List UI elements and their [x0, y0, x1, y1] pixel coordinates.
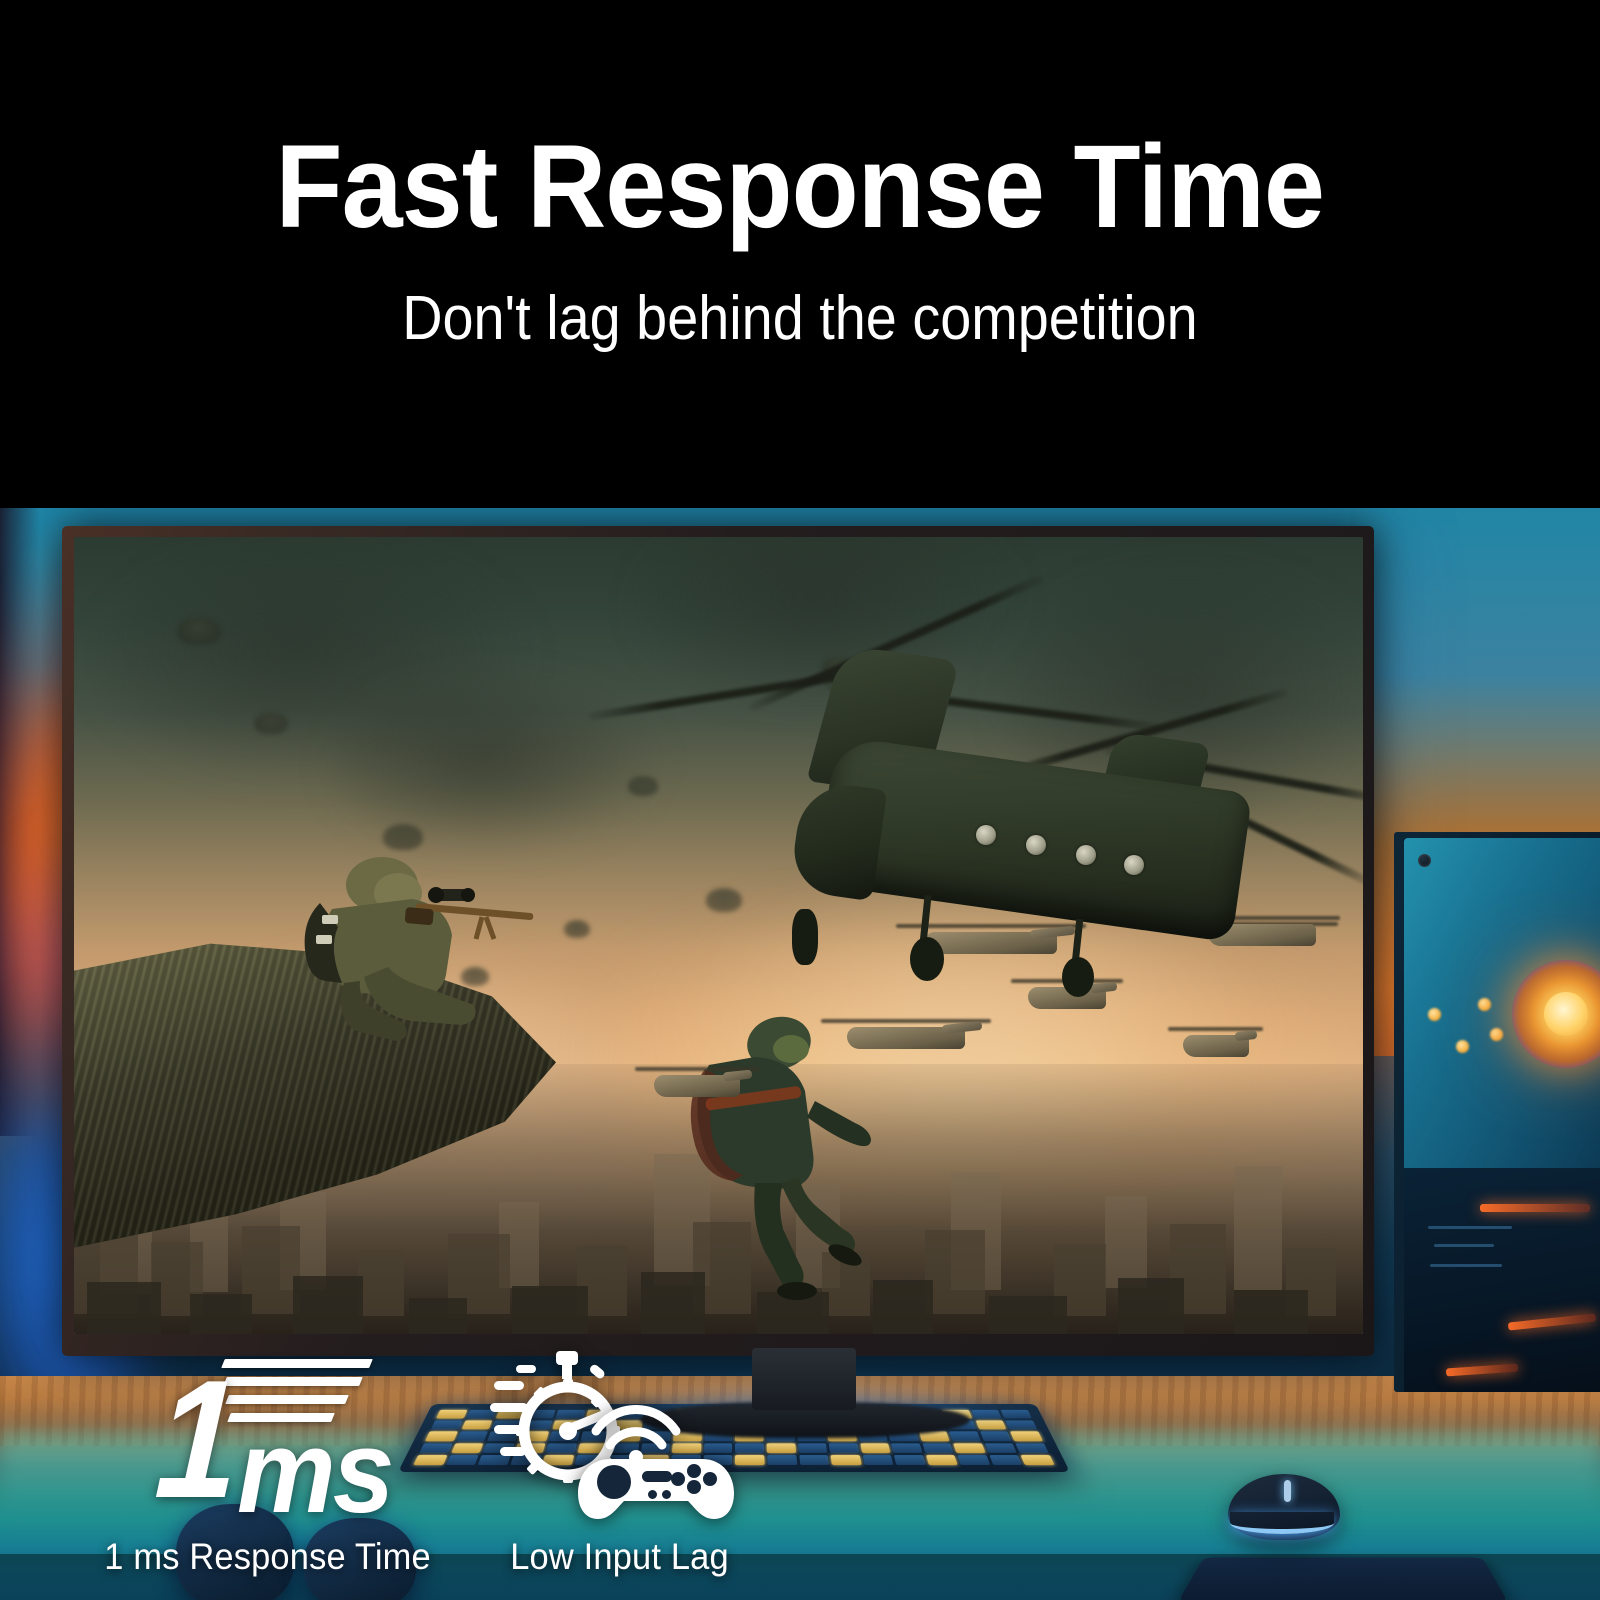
parachute — [564, 920, 590, 938]
helicopter-nose — [789, 779, 888, 902]
badge-1ms-response-time: 1 ms 1 ms Response Time — [96, 1351, 440, 1578]
badge-label: 1 ms Response Time — [105, 1536, 432, 1578]
speed-line — [225, 1395, 349, 1404]
badge-low-input-lag: Low Input Lag — [470, 1351, 770, 1578]
landing-gear-wheel — [792, 909, 818, 965]
cabin-window — [1026, 835, 1046, 855]
logo-unit: ms — [237, 1413, 392, 1531]
rgb-light-dot — [1456, 1040, 1469, 1053]
monitor-screen — [74, 537, 1363, 1334]
parachute — [628, 776, 658, 796]
speed-lines-1ms-logo-icon: 1 ms — [153, 1351, 383, 1526]
building — [1105, 1196, 1147, 1288]
logo-number: 1 — [152, 1355, 243, 1523]
page-subtitle: Don't lag behind the competition — [402, 288, 1197, 350]
pc-internal-line — [1430, 1264, 1502, 1267]
cabin-window — [976, 825, 996, 845]
page-title: Fast Response Time — [276, 128, 1325, 246]
rgb-light-dot — [1490, 1028, 1503, 1041]
pc-internal-line — [1434, 1244, 1494, 1247]
building — [1234, 1166, 1282, 1290]
badge-art — [490, 1351, 750, 1526]
parachute — [177, 617, 221, 645]
cabin-window — [1076, 845, 1096, 865]
sniper-soldier-icon — [286, 837, 556, 1047]
header-band: Fast Response Time Don't lag behind the … — [0, 0, 1600, 508]
smoke-plume — [332, 680, 667, 855]
feature-badges: 1 ms 1 ms Response Time — [0, 1300, 1600, 1600]
rgb-light-strip — [1480, 1204, 1590, 1212]
cabin-window — [1124, 855, 1144, 875]
promo-banner: Fast Response Time Don't lag behind the … — [0, 0, 1600, 1600]
pc-internal-line — [1428, 1226, 1512, 1229]
power-button[interactable] — [1418, 854, 1431, 867]
landing-gear-wheel — [910, 937, 944, 981]
sniper-soldier — [286, 837, 556, 1047]
ch-47-chinook-helicopter — [674, 579, 1363, 1099]
parachute — [254, 712, 288, 734]
rgb-light-dot — [1478, 998, 1491, 1011]
badge-art: 1 ms — [153, 1351, 383, 1526]
wireless-gamepad-icon — [576, 1387, 746, 1523]
landing-gear-wheel — [1062, 957, 1094, 997]
badge-label: Low Input Lag — [511, 1536, 730, 1578]
fan-hub — [1544, 992, 1588, 1036]
gaming-monitor — [62, 526, 1374, 1356]
speed-line — [221, 1359, 373, 1368]
speed-line — [223, 1377, 363, 1386]
rgb-light-dot — [1428, 1008, 1441, 1021]
